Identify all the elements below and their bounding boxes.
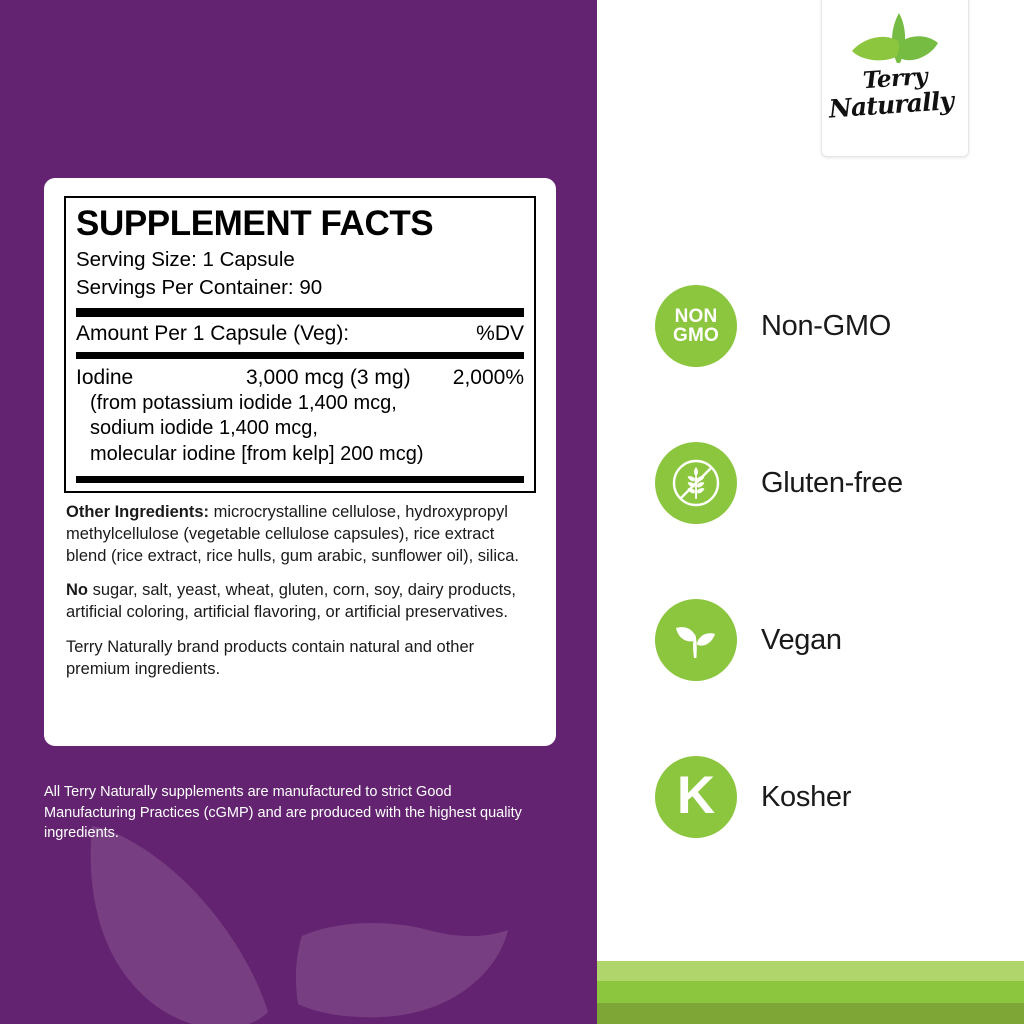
green-band-light [597, 961, 1024, 981]
badge-label-gluten-free: Gluten-free [761, 467, 903, 500]
nutrient-source-line: sodium iodide 1,400 mcg, [90, 416, 524, 442]
other-ingredients-label: Other Ingredients: [66, 503, 209, 521]
kosher-k-letter: K [655, 756, 737, 838]
bottom-green-bands [597, 961, 1024, 1024]
nutrient-row-iodine: Iodine 3,000 mcg (3 mg) 2,000% [76, 359, 524, 390]
badge-row-non-gmo: NON GMO Non-GMO [655, 285, 891, 367]
badge-label-kosher: Kosher [761, 781, 851, 814]
supplement-facts-card: SUPPLEMENT FACTS Serving Size: 1 Capsule… [44, 178, 556, 746]
green-band-medium [597, 981, 1024, 1003]
no-contains-text: sugar, salt, yeast, wheat, gluten, corn,… [66, 581, 516, 621]
badge-label-vegan: Vegan [761, 624, 842, 657]
leaf-watermark-icon [60, 824, 597, 1024]
nutrient-source-line: (from potassium iodide 1,400 mcg, [90, 391, 524, 417]
certification-badges: NON GMO Non-GMO [597, 0, 1024, 1024]
daily-value-label: %DV [476, 322, 524, 346]
crossed-wheat-icon [655, 442, 737, 524]
cgmp-fineprint: All Terry Naturally supplements are manu… [44, 782, 534, 844]
left-purple-panel: SUPPLEMENT FACTS Serving Size: 1 Capsule… [0, 0, 597, 1024]
sprout-icon [655, 599, 737, 681]
sprout-glyph [670, 614, 722, 666]
rule-thick-bottom [76, 476, 524, 483]
nutrient-source-list: (from potassium iodide 1,400 mcg, sodium… [76, 390, 524, 476]
badge-row-kosher: K Kosher [655, 756, 851, 838]
supplement-facts-title: SUPPLEMENT FACTS [76, 206, 524, 242]
non-gmo-icon: NON GMO [655, 285, 737, 367]
nutrient-source-line: molecular iodine [from kelp] 200 mcg) [90, 442, 524, 468]
other-ingredients-paragraph: Other Ingredients: microcrystalline cell… [66, 502, 534, 568]
badge-row-gluten-free: Gluten-free [655, 442, 903, 524]
right-white-panel: Terry Naturally NON GMO Non-GMO [597, 0, 1024, 1024]
crossed-wheat-glyph [668, 455, 724, 511]
no-label: No [66, 581, 88, 599]
supplement-label-page: SUPPLEMENT FACTS Serving Size: 1 Capsule… [0, 0, 1024, 1024]
ingredients-block: Other Ingredients: microcrystalline cell… [64, 493, 536, 682]
brand-note-paragraph: Terry Naturally brand products contain n… [66, 637, 534, 681]
green-band-dark [597, 1003, 1024, 1024]
nutrient-daily-value: 2,000% [453, 366, 524, 390]
kosher-k-icon: K [655, 756, 737, 838]
non-gmo-icon-line1: NON [675, 307, 718, 326]
nutrient-name: Iodine [76, 366, 246, 390]
rule-under-amount-header [76, 352, 524, 359]
amount-per-serving-label: Amount Per 1 Capsule (Veg): [76, 322, 349, 346]
badge-label-non-gmo: Non-GMO [761, 310, 891, 343]
badge-row-vegan: Vegan [655, 599, 842, 681]
servings-per-container-text: Servings Per Container: 90 [76, 274, 524, 301]
amount-header-row: Amount Per 1 Capsule (Veg): %DV [76, 317, 524, 352]
nutrient-amount: 3,000 mcg (3 mg) [246, 366, 453, 390]
supplement-facts-box: SUPPLEMENT FACTS Serving Size: 1 Capsule… [64, 196, 536, 493]
rule-thick-top [76, 308, 524, 317]
non-gmo-icon-line2: GMO [673, 326, 719, 345]
serving-size-text: Serving Size: 1 Capsule [76, 246, 524, 273]
no-contains-paragraph: No sugar, salt, yeast, wheat, gluten, co… [66, 580, 534, 624]
